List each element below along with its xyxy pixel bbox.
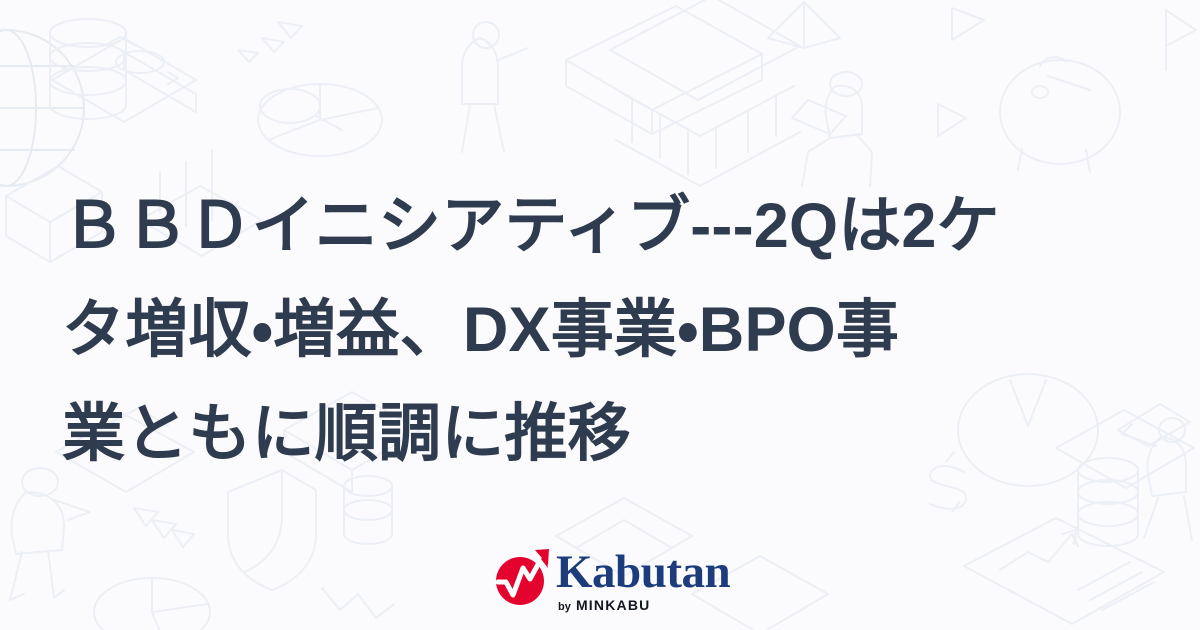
person-with-laptop-icon	[792, 72, 872, 186]
pyramid-icon	[768, 2, 840, 48]
document-chart-icon	[964, 518, 1164, 624]
headline-line-1: ＢＢＤイニシアティブ---2Qは2ケ	[62, 174, 1152, 278]
pie-chart-icon	[258, 84, 382, 156]
pie-chart-icon	[94, 578, 210, 630]
headline-line-3: 業ともに順調に推移	[62, 382, 1152, 486]
headline-line-2: タ増収・増益、DX事業・BPO事	[62, 278, 1152, 382]
og-image-card: ＢＢＤイニシアティブ---2Qは2ケ タ増収・増益、DX事業・BPO事 業ともに…	[0, 0, 1200, 630]
cursor-triangles-icon	[134, 508, 194, 547]
rising-chart-arrow-icon	[496, 546, 552, 606]
standing-person-icon	[10, 468, 90, 600]
flag-icon	[1166, 10, 1196, 70]
logo-byline-brand: MINKABU	[576, 597, 651, 613]
standing-person-icon	[462, 22, 528, 152]
logo-byline: by MINKABU	[558, 598, 730, 615]
zigzag-line-icon	[322, 588, 394, 618]
piggy-bank-icon	[1000, 57, 1120, 172]
shield-icon	[228, 470, 316, 590]
coin-stack-icon	[50, 19, 126, 119]
tablet-icon	[566, 6, 762, 134]
kabutan-logo[interactable]: Kabutan by MINKABU	[496, 546, 730, 615]
logo-wordmark: Kabutan	[556, 550, 730, 594]
cursor-triangles-icon	[238, 22, 302, 62]
logo-byline-prefix: by	[558, 601, 571, 613]
bank-building-icon	[610, 0, 800, 186]
banknote-icon	[52, 37, 196, 122]
arrow-marker-icon	[938, 8, 984, 136]
logo-text-block: Kabutan by MINKABU	[556, 546, 730, 615]
search-lens-icon	[260, 89, 342, 130]
article-headline: ＢＢＤイニシアティブ---2Qは2ケ タ増収・増益、DX事業・BPO事 業ともに…	[62, 174, 1152, 486]
globe-icon	[0, 30, 84, 186]
